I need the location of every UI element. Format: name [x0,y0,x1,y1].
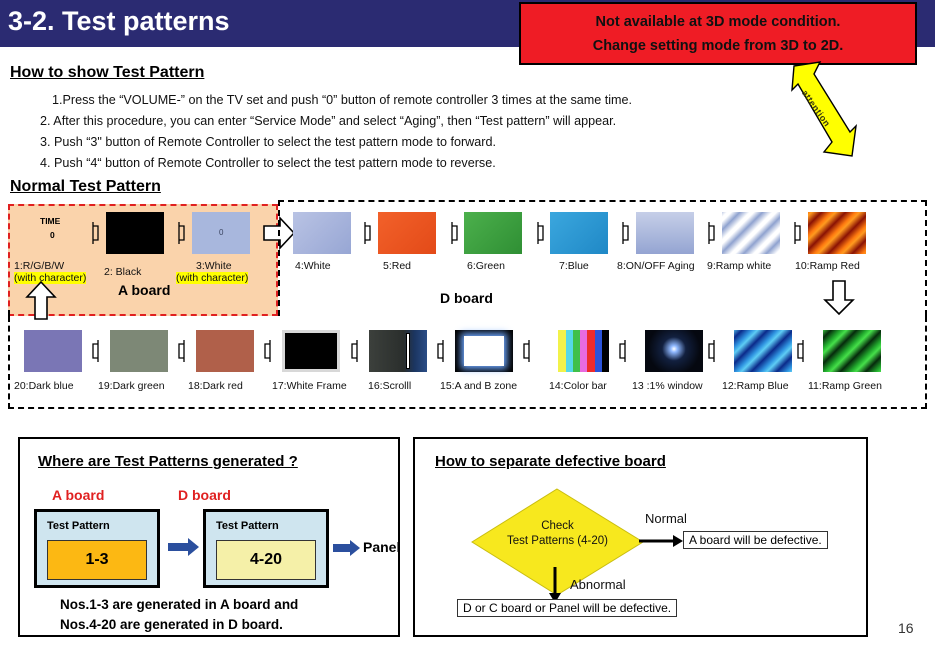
flow-connector-icon [447,222,458,244]
pattern-thumb-19-dark-green [110,330,168,372]
pattern-caption-4: 4:White [295,260,331,272]
pattern-caption-10: 10:Ramp Red [795,260,860,272]
flow-connector-icon [533,222,544,244]
pattern-caption-15: 15:A and B zone [440,380,517,392]
color-bar-segment [580,330,587,372]
flow-connector-icon [88,222,99,244]
pattern-thumb-7-blue [550,212,608,254]
decision-line-1: Check [475,519,640,534]
a-to-d-flow-arrow-icon [168,537,200,557]
flow-connector-icon [351,340,362,362]
warning-line-1: Not available at 3D mode condition. [521,10,915,34]
d-board-tag: D board [178,487,231,503]
pattern-thumb-5-red [378,212,436,254]
a-board-range: 1-3 [47,540,147,580]
pattern-caption-7: 7:Blue [559,260,589,272]
pattern-caption-1: 1:R/G/B/W [14,260,64,272]
panel-output-label: Panel [363,539,400,555]
flow-connector-icon [360,222,371,244]
attention-callout-arrow [790,60,860,160]
flow-connector-icon [797,340,808,362]
pattern-caption-17: 17:White Frame [272,380,347,392]
pattern-caption-9: 9:Ramp white [707,260,771,272]
abnormal-branch-label: Abnormal [570,577,626,592]
pattern-thumb-6-green [464,212,522,254]
step-item: 1.Press the “VOLUME-” on the TV set and … [40,90,780,111]
page-title: 3-2. Test patterns [8,6,230,37]
abnormal-result-box: D or C board or Panel will be defective. [457,599,677,617]
test-pattern-diagram: A board TIME 0 1:R/G/B/W (with character… [0,198,935,413]
flow-connector-icon [174,222,185,244]
d-board-group-label: D board [440,290,493,306]
color-bar-segment [558,330,565,372]
flow-connector-icon [437,340,448,362]
color-bar-segment [595,330,602,372]
d-board-test-pattern-label: Test Pattern [216,520,279,532]
flow-connector-icon [264,340,275,362]
where-generated-heading: Where are Test Patterns generated ? [38,453,298,470]
warning-line-2: Change setting mode from 3D to 2D. [521,34,915,58]
d-board-box: Test Pattern 4-20 [203,509,329,588]
pattern-thumb-11-ramp-green [823,330,881,372]
normal-result-box: A board will be defective. [683,531,828,549]
pattern-thumb-17-white-frame [282,330,340,372]
normal-test-pattern-heading: Normal Test Pattern [10,178,161,196]
pattern-caption-3-sub: (with character) [176,272,248,284]
color-bar-segment [587,330,594,372]
decision-diamond-text: Check Test Patterns (4-20) [475,519,640,549]
pattern-thumb-15-ab-zone [455,330,513,372]
page-number: 16 [898,620,914,636]
pattern-caption-18: 18:Dark red [188,380,243,392]
abnormal-branch-arrow-icon [548,567,562,603]
normal-branch-arrow-icon [639,534,683,548]
pattern-caption-12: 12:Ramp Blue [722,380,789,392]
flow-connector-icon [523,340,534,362]
pattern-caption-14: 14:Color bar [549,380,607,392]
d-board-range: 4-20 [216,540,316,580]
normal-branch-label: Normal [645,511,687,526]
pattern-caption-8: 8:ON/OFF Aging [617,260,695,272]
where-generated-note-1: Nos.1-3 are generated in A board and [60,597,298,612]
where-generated-panel: Where are Test Patterns generated ? A bo… [18,437,400,637]
pattern-caption-2: 2: Black [104,266,141,278]
pattern-caption-20: 20:Dark blue [14,380,74,392]
color-bar-segment [566,330,573,372]
pattern-caption-11: 11:Ramp Green [808,380,882,392]
pattern-overlay-time-label: TIME [40,216,60,226]
how-to-show-heading: How to show Test Pattern [10,64,204,82]
pattern-thumb-10-ramp-red [808,212,866,254]
where-generated-note-2: Nos.4-20 are generated in D board. [60,617,283,632]
pattern-overlay-zero: 0 [219,228,223,237]
a-board-box: Test Pattern 1-3 [34,509,160,588]
decision-line-2: Test Patterns (4-20) [475,534,640,549]
flow-connector-icon [178,340,189,362]
pattern-thumb-9-ramp-white [722,212,780,254]
d-to-panel-flow-arrow-icon [333,539,361,557]
pattern-caption-3: 3:White [196,260,232,272]
pattern-thumb-4-white [293,212,351,254]
pattern-caption-19: 19:Dark green [98,380,165,392]
flow-connector-icon [704,222,715,244]
pattern-thumb-14-color-bar [551,330,609,372]
warning-banner: Not available at 3D mode condition. Chan… [519,2,917,65]
pattern-thumb-8-onoff-aging [636,212,694,254]
color-bar-segment [551,330,558,372]
color-bar-segment [602,330,609,372]
pattern-thumb-20-dark-blue [24,330,82,372]
flow-connector-icon [619,340,630,362]
pattern-overlay-time-value: 0 [50,230,55,240]
pattern-caption-5: 5:Red [383,260,411,272]
flow-connector-icon [790,222,801,244]
pattern-caption-13: 13 :1% window [632,380,703,392]
step-item: 2. After this procedure, you can enter “… [40,111,780,132]
pattern-thumb-16-scroll [369,330,427,372]
scroll-bar-indicator [406,333,410,369]
flow-connector-icon [92,340,103,362]
pattern-thumb-1-rgbw: TIME 0 [28,212,86,254]
flow-connector-icon [618,222,629,244]
pattern-thumb-3-white: 0 [192,212,250,254]
color-bar-segment [573,330,580,372]
step-item: 3. Push “3" button of Remote Controller … [40,132,780,153]
pattern-caption-16: 16:Scrolll [368,380,411,392]
pattern-thumb-13-one-percent-window [645,330,703,372]
defective-board-heading: How to separate defective board [435,453,666,470]
ab-zone-inner-rect [464,336,504,366]
step-item: 4. Push “4“ button of Remote Controller … [40,153,780,174]
a-board-test-pattern-label: Test Pattern [47,520,110,532]
how-to-steps-list: 1.Press the “VOLUME-” on the TV set and … [40,90,780,174]
defective-board-panel: How to separate defective board Check Te… [413,437,868,637]
row-wrap-up-arrow-icon [24,280,58,320]
row-wrap-down-arrow-icon [822,280,856,316]
pattern-thumb-12-ramp-blue [734,330,792,372]
pattern-thumb-2-black [106,212,164,254]
pattern-thumb-18-dark-red [196,330,254,372]
a-board-group-label: A board [118,282,170,298]
pattern-caption-6: 6:Green [467,260,505,272]
attention-label: attention [800,88,833,129]
flow-connector-icon [708,340,719,362]
a-board-tag: A board [52,487,104,503]
